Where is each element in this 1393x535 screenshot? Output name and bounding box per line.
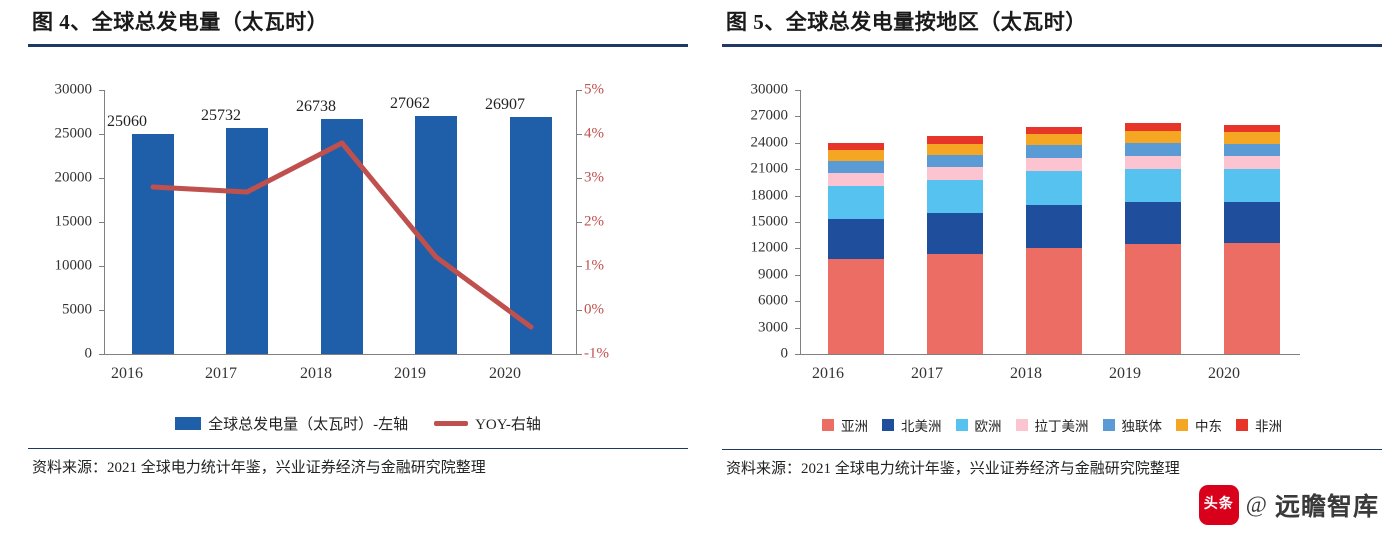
seg-2020-north-america [1224,202,1280,243]
legend-item-total-generation[interactable]: 全球总发电量（太瓦时）-左轴 [175,413,408,434]
seg-2019-africa [1125,123,1181,131]
legend-swatch-cis-icon [1103,419,1115,431]
figure-5-panel: 图 5、全球总发电量按地区（太瓦时） 0 3000 6000 9000 1200… [722,0,1382,535]
legend-swatch-line-icon [434,421,468,426]
legend-label-cis: 独联体 [1122,415,1163,435]
y-tick-right-4: 3% [584,170,644,187]
watermark-at: @ [1246,492,1268,518]
legend-label-asia: 亚洲 [841,415,868,435]
legend-item-middle-east[interactable]: 中东 [1176,415,1222,435]
stacked-bars-layer [800,90,1300,354]
seg-2018-cis [1026,145,1082,158]
y-tick-right-5: 4% [584,126,644,143]
y-tick-left-2: 10000 [28,258,92,275]
bar-label-2017: 25732 [176,107,266,125]
y-tick-right-0: -1% [584,346,644,363]
y-tick-right-6: 5% [584,82,644,99]
y-tick-right-2: 1% [584,258,644,275]
figure-5-legend: 亚洲 北美洲 欧洲 拉丁美洲 独联体 中东 [722,415,1382,435]
x-tick-2020: 2020 [465,365,545,383]
seg-2016-north-america [828,219,884,259]
tickmark-r0 [577,354,582,355]
bar-label-2016: 25060 [82,113,172,131]
figure-5-source: 资料来源：2021 全球电力统计年鉴，兴业证券经济与金融研究院整理 [722,450,1382,481]
y-tick-left-3: 15000 [28,214,92,231]
y-tick-r5-3: 9000 [722,266,788,283]
seg-2020-cis [1224,144,1280,156]
x-tick-f5-2019: 2019 [1085,365,1165,383]
seg-2016-cis [828,161,884,173]
seg-2019-north-america [1125,202,1181,244]
x-tick-f5-2016: 2016 [788,365,868,383]
y-tick-right-3: 2% [584,214,644,231]
legend-label-north-america: 北美洲 [901,415,942,435]
legend-item-north-america[interactable]: 北美洲 [882,415,942,435]
seg-2016-latin-america [828,173,884,186]
watermark-badge-icon: 头条 [1199,485,1239,525]
y-tick-r5-10: 30000 [722,82,788,99]
figure-4-title: 图 4、全球总发电量（太瓦时） [28,0,688,44]
legend-swatch-middle-east-icon [1176,419,1188,431]
legend-item-europe[interactable]: 欧洲 [956,415,1002,435]
seg-2018-middle-east [1026,134,1082,145]
legend-label-europe: 欧洲 [975,415,1002,435]
tickmark-r4 [577,178,582,179]
y-tick-r5-6: 18000 [722,187,788,204]
y-tick-right-1: 0% [584,302,644,319]
seg-2017-middle-east [927,144,983,155]
page-root: 图 4、全球总发电量（太瓦时） 0 5000 10000 15000 20000… [0,0,1393,535]
tickmark-l0 [99,354,104,355]
tickmark-f5-0 [795,354,800,355]
bar-label-2019: 27062 [365,95,455,113]
seg-2016-middle-east [828,150,884,161]
legend-label-yoy: YOY-右轴 [475,413,541,434]
tickmark-r6 [577,90,582,91]
seg-2018-africa [1026,127,1082,135]
y-tick-left-1: 5000 [28,302,92,319]
seg-2017-north-america [927,213,983,254]
seg-2016-asia [828,259,884,354]
seg-2019-cis [1125,143,1181,156]
legend-label-middle-east: 中东 [1195,415,1222,435]
seg-2018-latin-america [1026,158,1082,171]
legend-item-latin-america[interactable]: 拉丁美洲 [1016,415,1089,435]
x-tick-f5-2018: 2018 [986,365,1066,383]
y-tick-r5-0: 0 [722,346,788,363]
seg-2020-latin-america [1224,156,1280,169]
seg-2019-europe [1125,169,1181,202]
x-tick-f5-2020: 2020 [1184,365,1264,383]
figure-5-title: 图 5、全球总发电量按地区（太瓦时） [722,0,1382,44]
tickmark-r1 [577,310,582,311]
tickmark-r2 [577,266,582,267]
seg-2016-africa [828,143,884,150]
seg-2019-latin-america [1125,156,1181,169]
x-tick-2016: 2016 [87,365,167,383]
yoy-line-svg [104,90,577,354]
figure-4-panel: 图 4、全球总发电量（太瓦时） 0 5000 10000 15000 20000… [28,0,688,535]
x-tick-2017: 2017 [181,365,261,383]
y-tick-left-6: 30000 [28,82,92,99]
legend-label-africa: 非洲 [1255,415,1282,435]
watermark-text: 远瞻智库 [1275,487,1379,523]
legend-label-latin-america: 拉丁美洲 [1035,415,1089,435]
legend-swatch-africa-icon [1236,419,1248,431]
x-axis-figure5 [800,354,1300,355]
seg-2017-africa [927,136,983,143]
y-tick-r5-8: 24000 [722,134,788,151]
y-tick-left-0: 0 [28,346,92,363]
seg-2018-north-america [1026,205,1082,247]
legend-swatch-latin-america-icon [1016,419,1028,431]
legend-swatch-north-america-icon [882,419,894,431]
tickmark-r3 [577,222,582,223]
legend-swatch-asia-icon [822,419,834,431]
seg-2017-latin-america [927,167,983,180]
legend-label-total-generation: 全球总发电量（太瓦时）-左轴 [208,413,408,434]
x-axis [104,354,577,355]
y-tick-r5-9: 27000 [722,108,788,125]
seg-2017-europe [927,180,983,213]
x-tick-2019: 2019 [370,365,450,383]
figure-4-source: 资料来源：2021 全球电力统计年鉴，兴业证券经济与金融研究院整理 [28,449,688,480]
legend-item-cis[interactable]: 独联体 [1103,415,1163,435]
tickmark-r5 [577,134,582,135]
x-tick-f5-2017: 2017 [887,365,967,383]
seg-2020-asia [1224,243,1280,354]
seg-2020-africa [1224,125,1280,133]
seg-2016-europe [828,186,884,219]
y-tick-r5-7: 21000 [722,161,788,178]
legend-swatch-bar-icon [175,417,201,430]
watermark: 头条 @ 远瞻智库 [1199,485,1379,525]
legend-item-africa[interactable]: 非洲 [1236,415,1282,435]
seg-2018-europe [1026,171,1082,205]
figure-4-legend: 全球总发电量（太瓦时）-左轴 YOY-右轴 [28,413,688,434]
seg-2019-asia [1125,244,1181,354]
y-tick-r5-4: 12000 [722,240,788,257]
seg-2017-asia [927,254,983,354]
y-tick-r5-5: 15000 [722,214,788,231]
legend-item-yoy[interactable]: YOY-右轴 [434,413,541,434]
y-tick-r5-1: 3000 [722,319,788,336]
seg-2019-middle-east [1125,131,1181,143]
seg-2020-europe [1224,169,1280,202]
x-tick-2018: 2018 [276,365,356,383]
legend-swatch-europe-icon [956,419,968,431]
y-tick-left-4: 20000 [28,170,92,187]
y-tick-r5-2: 6000 [722,293,788,310]
bar-label-2020: 26907 [460,96,550,114]
yoy-line [153,143,531,327]
bars-layer [104,90,577,354]
seg-2017-cis [927,155,983,168]
figure-5-chart: 0 3000 6000 9000 12000 15000 18000 21000… [722,47,1382,407]
figure-4-chart: 0 5000 10000 15000 20000 25000 30000 -1%… [28,47,688,407]
seg-2018-asia [1026,248,1082,355]
seg-2020-middle-east [1224,132,1280,144]
legend-item-asia[interactable]: 亚洲 [822,415,868,435]
bar-label-2018: 26738 [271,98,361,116]
